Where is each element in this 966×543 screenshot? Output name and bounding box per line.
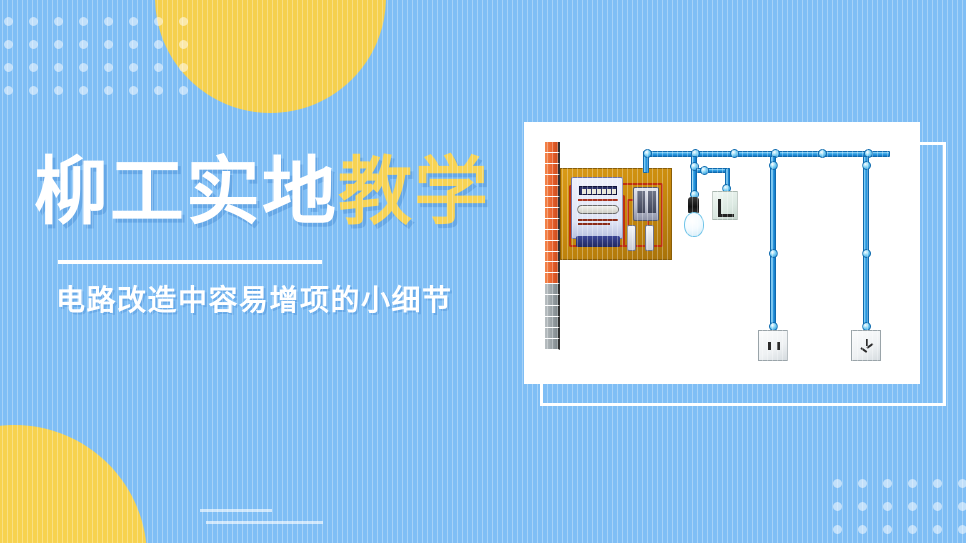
photo-card	[524, 122, 920, 384]
knife-switch-icon	[633, 187, 659, 221]
page-title: 柳工实地教学	[34, 155, 490, 229]
conduit-node	[818, 149, 827, 158]
conduit-node	[862, 249, 871, 258]
conduit-node	[769, 161, 778, 170]
title-accent-part: 教学	[338, 150, 490, 233]
conduit-outlet2-drop	[863, 156, 869, 326]
page-subtitle: 电路改造中容易增项的小细节	[56, 287, 453, 316]
light-bulb-icon	[684, 212, 704, 237]
fuse-left-icon	[627, 225, 636, 251]
dot-grid-bottom-right	[833, 479, 966, 543]
conduit-main-horizontal	[646, 151, 890, 157]
two-prong-outlet-icon	[758, 330, 788, 361]
conduit-outlet1-drop	[770, 156, 776, 326]
three-prong-outlet-icon	[851, 330, 881, 361]
wall-switch-icon	[712, 191, 738, 220]
dot-grid-top-left	[4, 17, 188, 95]
conduit-node	[643, 149, 652, 158]
decor-hairline-1	[200, 509, 272, 512]
wiring-diagram	[524, 122, 920, 384]
brick-wall-icon	[545, 142, 560, 350]
bulb-base-icon	[688, 197, 699, 213]
conduit-node	[730, 149, 739, 158]
poster-canvas: 柳工实地教学 电路改造中容易增项的小细节	[0, 0, 966, 543]
title-plain-part: 柳工实地	[34, 150, 338, 233]
conduit-node	[862, 161, 871, 170]
decor-circle-top	[155, 0, 386, 113]
electricity-meter-icon	[571, 177, 623, 239]
conduit-node	[700, 166, 709, 175]
decor-hairline-2	[206, 521, 323, 524]
mounting-board-icon	[560, 168, 672, 260]
conduit-node	[769, 249, 778, 258]
fuse-right-icon	[645, 225, 654, 251]
decor-circle-bottom	[0, 425, 147, 543]
title-divider	[58, 260, 322, 264]
